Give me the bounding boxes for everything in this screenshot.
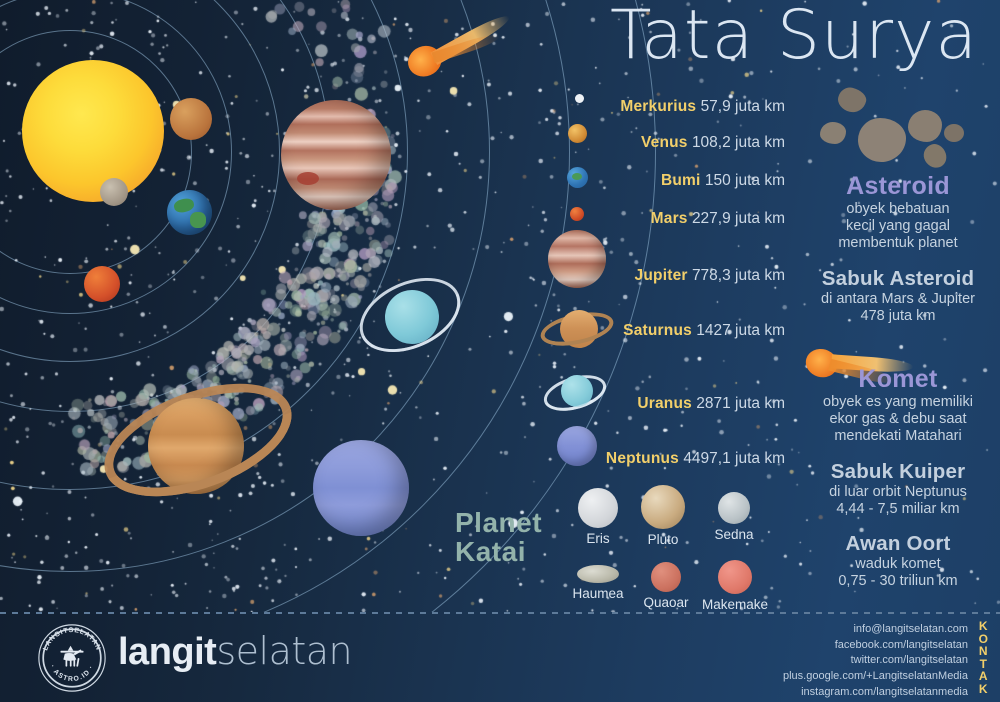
dwarf-body	[641, 485, 685, 529]
section-line: membentuk planet	[804, 235, 992, 252]
dwarf-body	[718, 492, 750, 524]
dwarf-label: Quaoar	[633, 595, 699, 610]
planet-mercury-art	[100, 178, 128, 206]
page-title: Tata Surya	[610, 0, 978, 75]
section-line: di antara Mars & Jupiter	[804, 291, 992, 308]
planet-distance: 57,9 juta km	[701, 98, 785, 115]
section-line: 0,75 - 30 triliun km	[804, 573, 992, 590]
icon-mercury	[575, 94, 584, 103]
section-sabuk-asteroid: Sabuk Asteroid di antara Mars & Jupiter …	[804, 267, 992, 325]
dwarf-planet-sedna: Sedna	[701, 492, 767, 542]
dwarf-label: Haumea	[565, 586, 631, 601]
planet-distance: 4497,1 juta km	[683, 450, 785, 467]
planet-saturn-art	[100, 370, 300, 510]
dwarf-body	[718, 560, 752, 594]
jupiter-great-red-spot	[297, 172, 319, 185]
planet-earth-art	[167, 190, 212, 235]
dwarf-planet-quaoar: Quaoar	[633, 562, 699, 610]
planet-row-uranus: Uranus 2871 juta km	[637, 396, 785, 412]
planet-name: Neptunus	[606, 450, 679, 467]
section-heading: Komet	[804, 365, 992, 394]
planet-name: Venus	[641, 134, 688, 151]
section-line: 478 juta km	[804, 308, 992, 325]
contact-facebook[interactable]: facebook.com/langitselatan	[783, 638, 968, 654]
section-line: kecil yang gagal	[804, 218, 992, 235]
contact-list: info@langitselatan.com facebook.com/lang…	[783, 622, 968, 701]
planet-distance: 1427 juta km	[696, 322, 785, 339]
contact-twitter[interactable]: twitter.com/langitselatan	[783, 653, 968, 669]
langitselatan-logo: LANGITSELATAN · ASTRO.ID ·	[36, 622, 108, 694]
dwarf-label: Pluto	[630, 532, 696, 547]
infographic-poster: Tata Surya Merkurius 57,9 juta km Venus …	[0, 0, 1000, 702]
svg-text:· ASTRO.ID ·: · ASTRO.ID ·	[48, 664, 95, 683]
section-line: obyek bebatuan	[804, 201, 992, 218]
dwarf-body	[651, 562, 681, 592]
planet-jupiter-art	[281, 100, 391, 210]
planet-name: Merkurius	[620, 98, 696, 115]
planet-name: Saturnus	[623, 322, 692, 339]
dwarf-label: Makemake	[702, 597, 768, 612]
dwarf-planet-haumea: Haumea	[565, 565, 631, 601]
dwarf-label: Sedna	[701, 527, 767, 542]
planet-name: Uranus	[637, 395, 692, 412]
dwarf-body	[577, 565, 619, 583]
contact-instagram[interactable]: instagram.com/langitselatanmedia	[783, 685, 968, 701]
asteroid-rocks-art	[820, 88, 995, 168]
planet-row-merkurius: Merkurius 57,9 juta km	[620, 99, 785, 115]
dwarf-planet-heading: Planet Katai	[455, 508, 565, 567]
planet-distance: 227,9 juta km	[692, 210, 785, 227]
section-asteroid: Asteroid obyek bebatuan kecil yang gagal…	[804, 172, 992, 252]
section-heading: Sabuk Kuiper	[804, 460, 992, 484]
planet-distance: 108,2 juta km	[692, 134, 785, 151]
dwarf-heading-line1: Planet	[455, 508, 565, 537]
section-line: mendekati Matahari	[804, 428, 992, 445]
section-line: 4,44 - 7,5 miliar km	[804, 501, 992, 518]
dwarf-planet-pluto: Pluto	[630, 485, 696, 547]
planet-neptune-art	[313, 440, 409, 536]
icon-jupiter	[548, 230, 606, 288]
dwarf-planet-eris: Eris	[565, 488, 631, 546]
footer-divider	[0, 612, 1000, 614]
earth-landmass	[190, 212, 206, 228]
planet-uranus-art	[355, 272, 465, 358]
section-line: obyek es yang memiliki	[804, 394, 992, 411]
brand-bold: langit	[118, 631, 216, 673]
kontak-vertical-label: KONTAK	[976, 620, 992, 696]
icon-earth-land	[572, 173, 582, 180]
section-komet: Komet obyek es yang memiliki ekor gas & …	[804, 365, 992, 445]
dwarf-body	[578, 488, 618, 528]
planet-name: Bumi	[661, 172, 701, 189]
contact-email[interactable]: info@langitselatan.com	[783, 622, 968, 638]
icon-uranus	[543, 369, 609, 417]
section-line: di luar orbit Neptunus	[804, 484, 992, 501]
planet-distance: 150 juta km	[705, 172, 785, 189]
dwarf-heading-line2: Katai	[455, 537, 565, 566]
section-heading: Sabuk Asteroid	[804, 267, 992, 291]
planet-name: Jupiter	[635, 267, 688, 284]
planet-mars-art	[84, 266, 120, 302]
planet-row-neptunus: Neptunus 4497,1 juta km	[606, 451, 785, 467]
icon-mars	[570, 207, 584, 221]
svg-text:LANGITSELATAN: LANGITSELATAN	[42, 627, 101, 652]
planet-venus-art	[170, 98, 212, 140]
contact-googleplus[interactable]: plus.google.com/+LangitselatanMedia	[783, 669, 968, 685]
planet-distance: 2871 juta km	[696, 395, 785, 412]
planet-row-venus: Venus 108,2 juta km	[641, 135, 785, 151]
planet-name: Mars	[651, 210, 688, 227]
section-sabuk-kuiper: Sabuk Kuiper di luar orbit Neptunus 4,44…	[804, 460, 992, 518]
dwarf-label: Eris	[565, 531, 631, 546]
planet-row-bumi: Bumi 150 juta km	[661, 173, 785, 189]
brand-thin: selatan	[216, 629, 352, 673]
section-heading: Asteroid	[804, 172, 992, 201]
section-awan-oort: Awan Oort waduk komet 0,75 - 30 triliun …	[804, 532, 992, 590]
planet-row-saturnus: Saturnus 1427 juta km	[623, 323, 785, 339]
sun	[22, 60, 164, 202]
icon-venus	[568, 124, 587, 143]
planet-row-mars: Mars 227,9 juta km	[651, 211, 785, 227]
brand-wordmark: langitselatan	[118, 632, 352, 671]
icon-neptune	[557, 426, 597, 466]
planet-distance: 778,3 juta km	[692, 267, 785, 284]
dwarf-planet-makemake: Makemake	[702, 560, 768, 612]
section-line: waduk komet	[804, 556, 992, 573]
section-line: ekor gas & debu saat	[804, 411, 992, 428]
section-heading: Awan Oort	[804, 532, 992, 556]
planet-row-jupiter: Jupiter 778,3 juta km	[635, 268, 785, 284]
icon-saturn	[540, 303, 616, 355]
